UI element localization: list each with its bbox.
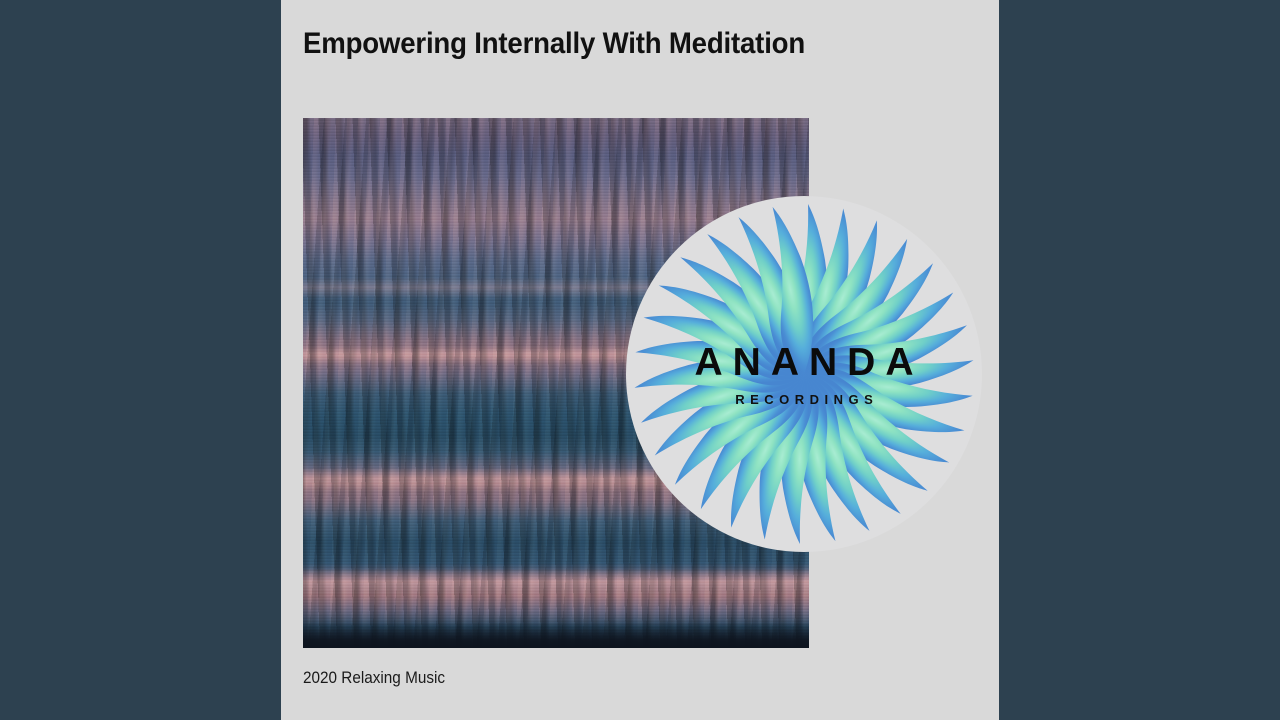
album-info-panel: Empowering Internally With Meditation xyxy=(281,0,999,720)
page-title: Empowering Internally With Meditation xyxy=(303,27,805,61)
ananda-recordings-logo: ANANDA RECORDINGS xyxy=(626,196,982,552)
video-player-stage: Empowering Internally With Meditation xyxy=(0,0,1280,720)
letterbox-bar-right xyxy=(999,0,1280,720)
foreground-shadow xyxy=(303,622,809,648)
letterbox-bar-left xyxy=(0,0,281,720)
album-caption: 2020 Relaxing Music xyxy=(303,668,445,688)
